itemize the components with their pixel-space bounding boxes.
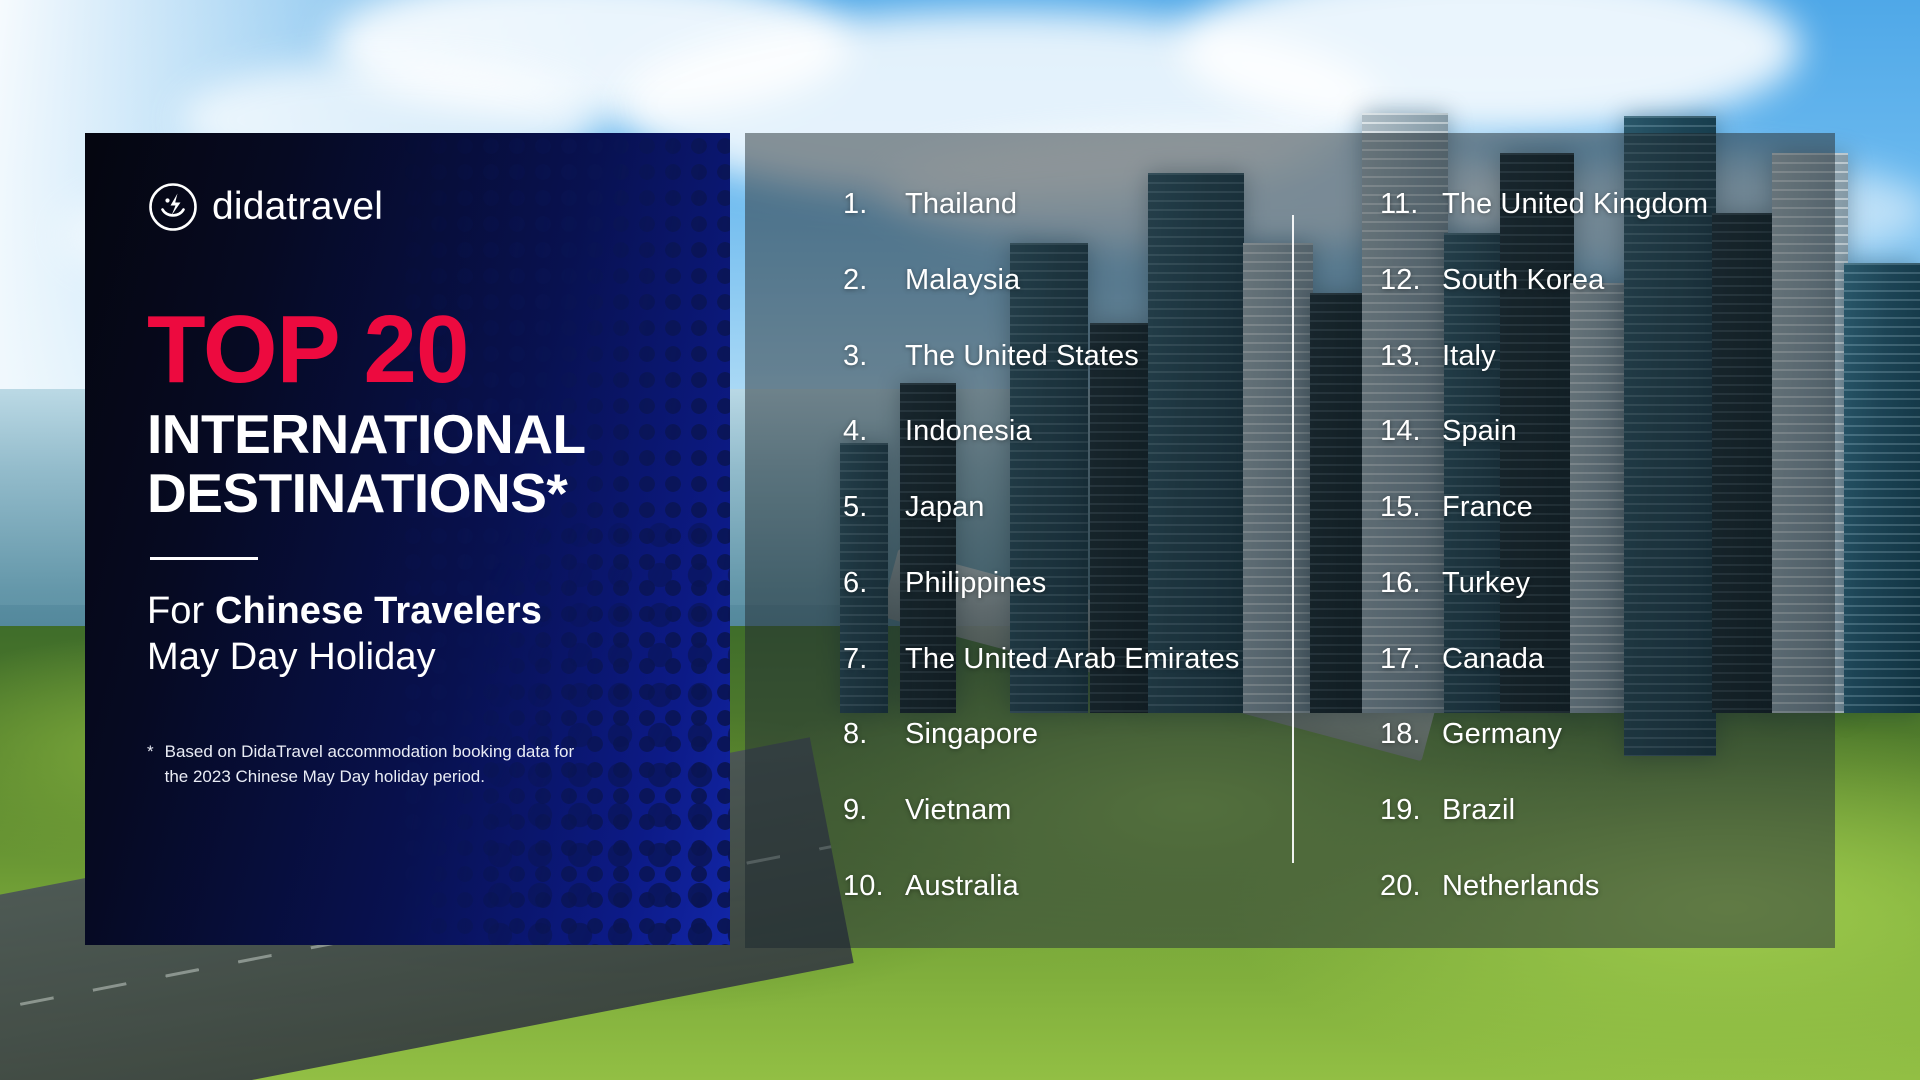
- subtitle-line-2: May Day Holiday: [147, 634, 674, 680]
- ranking-number: 8.: [843, 718, 905, 751]
- ranking-number: 12.: [1380, 264, 1442, 297]
- ranking-number: 15.: [1380, 491, 1442, 524]
- ranking-country-label: Turkey: [1442, 567, 1530, 600]
- ranking-item: 10.Australia: [843, 870, 1298, 903]
- ranking-item: 18.Germany: [1380, 718, 1835, 751]
- ranking-country-label: The United States: [905, 340, 1139, 373]
- ranking-item: 20.Netherlands: [1380, 870, 1835, 903]
- ranking-country-label: Indonesia: [905, 415, 1032, 448]
- ranking-item: 12.South Korea: [1380, 264, 1835, 297]
- ranking-column-right: 11.The United Kingdom12.South Korea13.It…: [1298, 188, 1835, 903]
- subtitle-line-1: For Chinese Travelers: [147, 588, 674, 634]
- page-title-top20: TOP 20: [147, 303, 674, 397]
- ranking-country-label: Japan: [905, 491, 985, 524]
- ranking-item: 17.Canada: [1380, 643, 1835, 676]
- divider-rule: [150, 557, 258, 560]
- ranking-item: 4.Indonesia: [843, 415, 1298, 448]
- ranking-number: 18.: [1380, 718, 1442, 751]
- brand-logo[interactable]: didatravel: [147, 181, 674, 233]
- ranking-number: 3.: [843, 340, 905, 373]
- ranking-number: 7.: [843, 643, 905, 676]
- headline-line-1: INTERNATIONAL: [147, 405, 674, 464]
- ranking-item: 5.Japan: [843, 491, 1298, 524]
- ranking-number: 5.: [843, 491, 905, 524]
- ranking-panel: 1.Thailand2.Malaysia3.The United States4…: [745, 133, 1835, 948]
- ranking-country-label: South Korea: [1442, 264, 1604, 297]
- ranking-number: 11.: [1380, 188, 1442, 221]
- ranking-item: 7.The United Arab Emirates: [843, 643, 1298, 676]
- ranking-country-label: Canada: [1442, 643, 1544, 676]
- ranking-country-label: Australia: [905, 870, 1019, 903]
- ranking-number: 14.: [1380, 415, 1442, 448]
- ranking-item: 11.The United Kingdom: [1380, 188, 1835, 221]
- ranking-country-label: Netherlands: [1442, 870, 1599, 903]
- ranking-country-label: The United Arab Emirates: [905, 643, 1239, 676]
- ranking-country-label: Spain: [1442, 415, 1517, 448]
- ranking-item: 9.Vietnam: [843, 794, 1298, 827]
- ranking-item: 6.Philippines: [843, 567, 1298, 600]
- ranking-country-label: Singapore: [905, 718, 1038, 751]
- ranking-item: 1.Thailand: [843, 188, 1298, 221]
- footnote-text: Based on DidaTravel accommodation bookin…: [165, 740, 585, 789]
- ranking-country-label: Italy: [1442, 340, 1496, 373]
- ranking-country-label: Germany: [1442, 718, 1562, 751]
- footnote-marker: *: [147, 740, 154, 789]
- ranking-number: 13.: [1380, 340, 1442, 373]
- infographic-canvas: didatravel TOP 20 INTERNATIONAL DESTINAT…: [0, 0, 1920, 1080]
- ranking-item: 16.Turkey: [1380, 567, 1835, 600]
- ranking-number: 16.: [1380, 567, 1442, 600]
- didatravel-smiley-bolt-icon: [147, 181, 199, 233]
- ranking-number: 2.: [843, 264, 905, 297]
- ranking-country-label: Brazil: [1442, 794, 1515, 827]
- ranking-number: 20.: [1380, 870, 1442, 903]
- ranking-number: 17.: [1380, 643, 1442, 676]
- ranking-number: 9.: [843, 794, 905, 827]
- ranking-number: 1.: [843, 188, 905, 221]
- ranking-country-label: Philippines: [905, 567, 1046, 600]
- subtitle-prefix: For: [147, 590, 215, 632]
- ranking-column-left: 1.Thailand2.Malaysia3.The United States4…: [745, 188, 1298, 903]
- ranking-item: 19.Brazil: [1380, 794, 1835, 827]
- headline-line-2: DESTINATIONS*: [147, 464, 674, 523]
- ranking-country-label: Malaysia: [905, 264, 1020, 297]
- ranking-item: 8.Singapore: [843, 718, 1298, 751]
- ranking-item: 3.The United States: [843, 340, 1298, 373]
- subtitle-strong: Chinese Travelers: [215, 590, 542, 632]
- ranking-number: 6.: [843, 567, 905, 600]
- ranking-item: 13.Italy: [1380, 340, 1835, 373]
- footnote: * Based on DidaTravel accommodation book…: [147, 740, 674, 789]
- ranking-country-label: France: [1442, 491, 1533, 524]
- ranking-number: 19.: [1380, 794, 1442, 827]
- ranking-item: 14.Spain: [1380, 415, 1835, 448]
- tower: [1844, 263, 1920, 713]
- ranking-country-label: Vietnam: [905, 794, 1012, 827]
- brand-wordmark: didatravel: [212, 185, 383, 229]
- ranking-country-label: The United Kingdom: [1442, 188, 1708, 221]
- ranking-item: 2.Malaysia: [843, 264, 1298, 297]
- hero-panel: didatravel TOP 20 INTERNATIONAL DESTINAT…: [85, 133, 730, 945]
- ranking-country-label: Thailand: [905, 188, 1017, 221]
- ranking-item: 15.France: [1380, 491, 1835, 524]
- ranking-number: 4.: [843, 415, 905, 448]
- ranking-number: 10.: [843, 870, 905, 903]
